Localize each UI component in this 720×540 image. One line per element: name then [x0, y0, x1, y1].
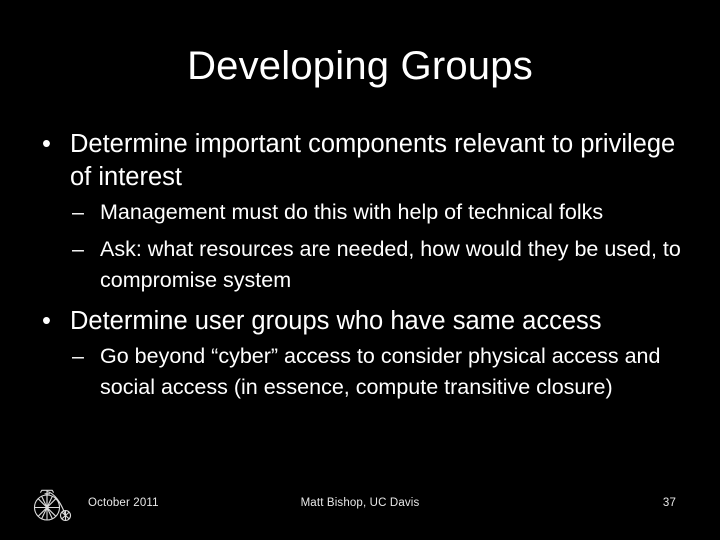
bullet-marker-dot-icon: •: [42, 305, 51, 338]
bullet-list-level2: – Management must do this with help of t…: [70, 197, 684, 297]
sub-bullet-item-1-2: – Ask: what resources are needed, how wo…: [72, 234, 684, 297]
bullet-marker-dash-icon: –: [72, 197, 84, 229]
slide-footer: October 2011 Matt Bishop, UC Davis 37: [0, 484, 720, 540]
sub-bullet-item-2-1: – Go beyond “cyber” access to consider p…: [72, 341, 684, 404]
bullet-item-1: • Determine important components relevan…: [36, 128, 684, 297]
sub-bullet-text: Management must do this with help of tec…: [100, 197, 684, 229]
page-title: Developing Groups: [0, 42, 720, 90]
bullet-item-2: • Determine user groups who have same ac…: [36, 305, 684, 404]
footer-attribution: Matt Bishop, UC Davis: [0, 497, 720, 509]
bullet-text: Determine important components relevant …: [70, 128, 684, 194]
bullet-list-level2: – Go beyond “cyber” access to consider p…: [70, 341, 684, 404]
sub-bullet-item-1-1: – Management must do this with help of t…: [72, 197, 684, 229]
slide: Developing Groups • Determine important …: [0, 0, 720, 540]
bullet-marker-dash-icon: –: [72, 234, 84, 266]
slide-body: • Determine important components relevan…: [36, 128, 684, 405]
bullet-marker-dot-icon: •: [42, 128, 51, 161]
bullet-marker-dash-icon: –: [72, 341, 84, 373]
sub-bullet-text: Go beyond “cyber” access to consider phy…: [100, 341, 684, 404]
bullet-text: Determine user groups who have same acce…: [70, 305, 684, 338]
bullet-list-level1: • Determine important components relevan…: [36, 128, 684, 404]
footer-page-number: 37: [663, 497, 676, 509]
sub-bullet-text: Ask: what resources are needed, how woul…: [100, 234, 684, 297]
